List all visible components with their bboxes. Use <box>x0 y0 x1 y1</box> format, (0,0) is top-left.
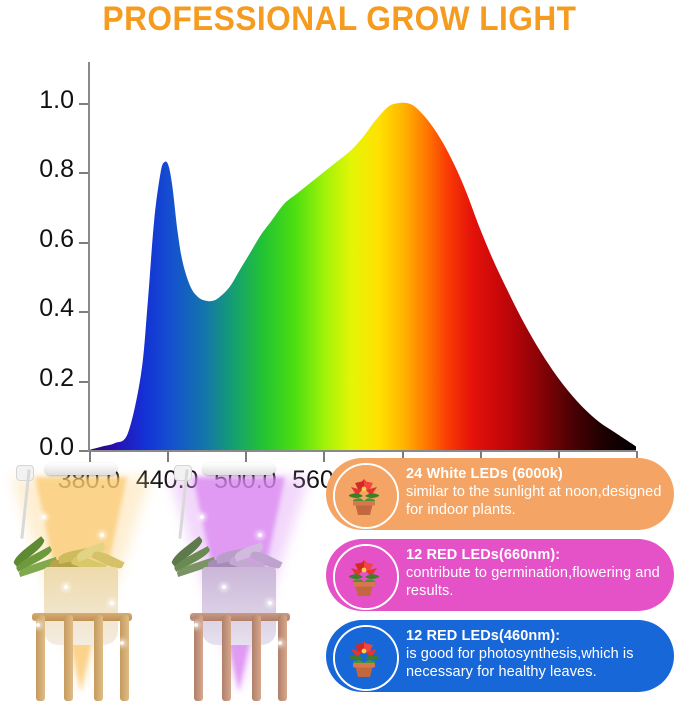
y-axis-tick <box>79 242 88 244</box>
card-description: is good for photosynthesis,which is nece… <box>406 646 662 681</box>
spectral-power-curve <box>89 62 636 451</box>
card-text: 12 RED LEDs(460nm): is good for photosyn… <box>406 627 662 681</box>
stand-leg <box>194 615 203 701</box>
grow-light-infographic: PROFESSIONAL GROW LIGHT <box>0 0 679 703</box>
y-axis-labels: 0.00.20.40.60.81.0 <box>0 62 74 451</box>
sparkle <box>64 585 68 589</box>
feature-cards: 24 White LEDs (6000k) similar to the sun… <box>326 458 676 701</box>
sparkle <box>42 515 46 519</box>
stand-rail <box>32 613 132 621</box>
feature-card-white-leds[interactable]: 24 White LEDs (6000k) similar to the sun… <box>326 458 674 530</box>
y-axis-tick <box>79 450 88 452</box>
plant-pot <box>44 567 118 645</box>
stand-leg <box>252 615 261 701</box>
stand-leg <box>120 615 129 701</box>
y-axis-tick-label: 0.8 <box>16 155 74 184</box>
y-axis-tick <box>79 311 88 313</box>
card-title: 24 White LEDs (6000k) <box>406 465 662 484</box>
page-title: PROFESSIONAL GROW LIGHT <box>24 0 655 40</box>
stand-leg <box>36 615 45 701</box>
stand-leg <box>94 615 103 701</box>
stand-leg <box>278 615 287 701</box>
lamp-head <box>203 463 275 475</box>
photo-warm-white-light <box>2 455 160 703</box>
card-description: similar to the sunlight at noon,designed… <box>406 484 662 519</box>
stand-leg <box>64 615 73 701</box>
sparkle <box>200 515 204 519</box>
sparkle <box>100 533 104 537</box>
potted-plant-icon <box>333 544 399 610</box>
card-title: 12 RED LEDs(660nm): <box>406 546 662 565</box>
photo-purple-light <box>160 455 318 703</box>
sparkle <box>258 533 262 537</box>
sparkle <box>278 641 282 645</box>
card-description: contribute to germination,flowering and … <box>406 565 662 600</box>
feature-card-red-660[interactable]: 12 RED LEDs(660nm): contribute to germin… <box>326 539 674 611</box>
y-axis-tick <box>79 381 88 383</box>
sparkle <box>110 601 114 605</box>
product-photos <box>0 455 320 703</box>
sparkle <box>120 641 124 645</box>
y-axis-tick-label: 0.4 <box>16 294 74 323</box>
sparkle <box>222 585 226 589</box>
chart-plot-area <box>89 62 636 451</box>
y-axis-tick-label: 0.2 <box>16 364 74 393</box>
lamp-clip-icon <box>174 465 192 481</box>
sparkle <box>36 623 40 627</box>
stand-leg <box>222 615 231 701</box>
y-axis-line <box>88 62 90 451</box>
sparkle <box>268 601 272 605</box>
y-axis-tick <box>79 172 88 174</box>
stand-rail <box>190 613 290 621</box>
potted-plant-icon <box>333 463 399 529</box>
x-axis-line <box>88 450 636 452</box>
plant-pot <box>202 567 276 645</box>
card-title: 12 RED LEDs(460nm): <box>406 627 662 646</box>
card-text: 12 RED LEDs(660nm): contribute to germin… <box>406 546 662 600</box>
potted-plant-icon <box>333 625 399 691</box>
spectrum-chart: 0.00.20.40.60.81.0 380.0440.0500.0560.06… <box>0 48 679 458</box>
feature-card-red-460[interactable]: 12 RED LEDs(460nm): is good for photosyn… <box>326 620 674 692</box>
y-axis-tick-label: 1.0 <box>16 86 74 115</box>
sparkle <box>194 623 198 627</box>
y-axis-tick-label: 0.6 <box>16 225 74 254</box>
card-text: 24 White LEDs (6000k) similar to the sun… <box>406 465 662 519</box>
y-axis-tick <box>79 103 88 105</box>
lamp-head <box>45 463 117 475</box>
lamp-clip-icon <box>16 465 34 481</box>
